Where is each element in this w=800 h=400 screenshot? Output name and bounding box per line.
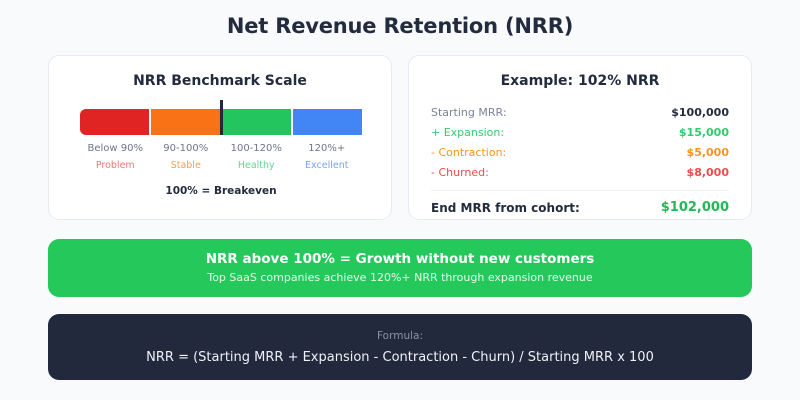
example-divider bbox=[431, 190, 729, 191]
formula-label: Formula: bbox=[48, 328, 752, 345]
example-row-end-mrr: End MRR from cohort: $102,000 bbox=[431, 198, 729, 218]
example-row-expansion: + Expansion: $15,000 bbox=[431, 123, 729, 143]
formula-text: NRR = (Starting MRR + Expansion - Contra… bbox=[48, 345, 752, 370]
example-breakdown: Starting MRR: $100,000 + Expansion: $15,… bbox=[431, 103, 729, 218]
example-value-end-mrr: $102,000 bbox=[661, 198, 729, 218]
scale-segment-healthy bbox=[222, 109, 291, 135]
example-row-contraction: - Contraction: $5,000 bbox=[431, 143, 729, 163]
scale-range-problem: Below 90% bbox=[80, 142, 151, 156]
example-value-contraction: $5,000 bbox=[687, 143, 729, 163]
cards-row: NRR Benchmark Scale Below 90% Problem 90 bbox=[48, 55, 752, 220]
growth-banner-title: NRR above 100% = Growth without new cust… bbox=[48, 249, 752, 269]
scale-status-excellent: Excellent bbox=[292, 158, 363, 174]
benchmark-card-title: NRR Benchmark Scale bbox=[49, 73, 391, 89]
growth-banner-subtitle: Top SaaS companies achieve 120%+ NRR thr… bbox=[48, 269, 752, 287]
scale-label-problem: Below 90% Problem bbox=[80, 142, 151, 174]
example-row-starting-mrr: Starting MRR: $100,000 bbox=[431, 103, 729, 123]
scale-range-stable: 90-100% bbox=[151, 142, 222, 156]
growth-banner: NRR above 100% = Growth without new cust… bbox=[48, 239, 752, 297]
example-value-churned: $8,000 bbox=[687, 163, 729, 183]
example-label-starting-mrr: Starting MRR: bbox=[431, 103, 507, 123]
scale-range-excellent: 120%+ bbox=[292, 142, 363, 156]
example-label-churned: - Churned: bbox=[431, 163, 489, 183]
example-label-contraction: - Contraction: bbox=[431, 143, 506, 163]
example-value-expansion: $15,000 bbox=[679, 123, 729, 143]
scale-segment-excellent bbox=[293, 109, 362, 135]
benchmark-scale-card: NRR Benchmark Scale Below 90% Problem 90 bbox=[48, 55, 392, 220]
example-label-end-mrr: End MRR from cohort: bbox=[431, 198, 580, 218]
scale-status-stable: Stable bbox=[151, 158, 222, 174]
example-card: Example: 102% NRR Starting MRR: $100,000… bbox=[408, 55, 752, 220]
example-card-title: Example: 102% NRR bbox=[409, 73, 751, 89]
scale-status-problem: Problem bbox=[80, 158, 151, 174]
breakeven-note: 100% = Breakeven bbox=[80, 185, 362, 197]
scale-segment-problem bbox=[80, 109, 149, 135]
scale-bar bbox=[80, 109, 362, 135]
scale-label-healthy: 100-120% Healthy bbox=[221, 142, 292, 174]
page-title: Net Revenue Retention (NRR) bbox=[0, 14, 800, 38]
nrr-infographic: Net Revenue Retention (NRR) NRR Benchmar… bbox=[0, 0, 800, 400]
scale-label-excellent: 120%+ Excellent bbox=[292, 142, 363, 174]
example-row-churned: - Churned: $8,000 bbox=[431, 163, 729, 183]
benchmark-scale: Below 90% Problem 90-100% Stable 100-120… bbox=[80, 109, 362, 197]
scale-range-healthy: 100-120% bbox=[221, 142, 292, 156]
example-value-starting-mrr: $100,000 bbox=[671, 103, 729, 123]
breakeven-marker-icon bbox=[220, 100, 223, 135]
scale-label-stable: 90-100% Stable bbox=[151, 142, 222, 174]
scale-labels: Below 90% Problem 90-100% Stable 100-120… bbox=[80, 142, 362, 174]
scale-status-healthy: Healthy bbox=[221, 158, 292, 174]
formula-box: Formula: NRR = (Starting MRR + Expansion… bbox=[48, 314, 752, 380]
scale-segment-stable bbox=[151, 109, 220, 135]
example-label-expansion: + Expansion: bbox=[431, 123, 504, 143]
